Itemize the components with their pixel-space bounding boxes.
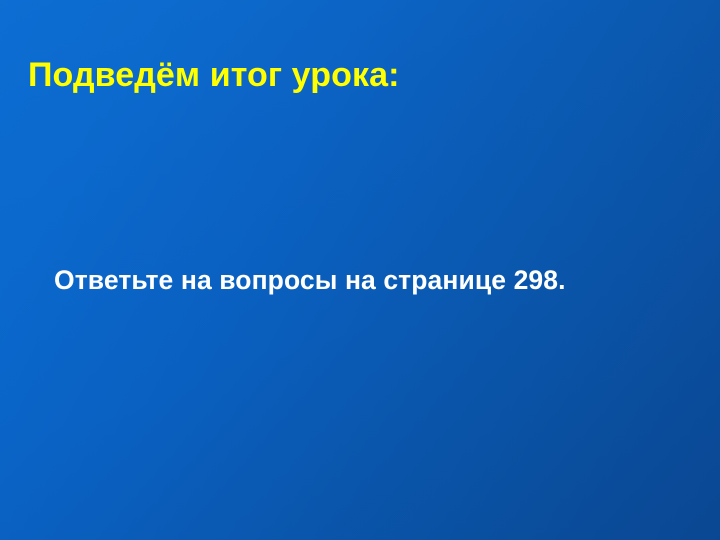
slide-content: Подведём итог урока: Ответьте на вопросы… — [0, 0, 720, 540]
slide-body: Ответьте на вопросы на странице 298. — [54, 262, 654, 298]
slide-title: Подведём итог урока: — [28, 55, 688, 95]
body-paragraph: Ответьте на вопросы на странице 298. — [54, 262, 654, 298]
presentation-slide: Подведём итог урока: Ответьте на вопросы… — [0, 0, 720, 540]
